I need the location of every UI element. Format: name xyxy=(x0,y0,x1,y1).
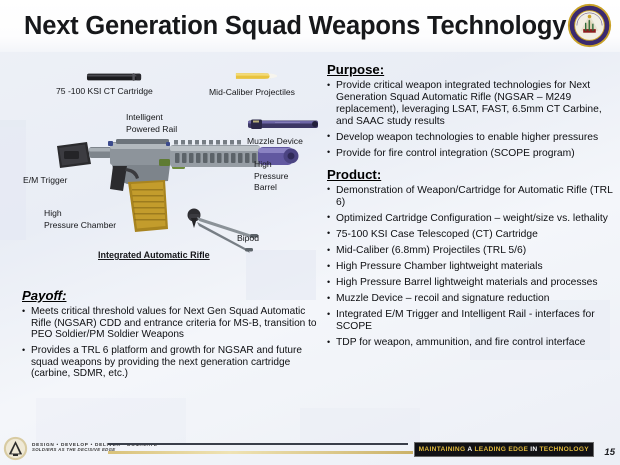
list-item: High Pressure Barrel lightweight materia… xyxy=(327,277,615,289)
list-item: Develop weapon technologies to enable hi… xyxy=(327,132,615,144)
footer-dark-rule xyxy=(108,443,408,445)
diagram-label-ct-cartridge: 75 -100 KSI CT Cartridge xyxy=(56,86,153,98)
product-list: Demonstration of Weapon/Cartridge for Au… xyxy=(327,185,615,349)
diagram-label-bipod: Bipod xyxy=(237,233,259,245)
list-item: Meets critical threshold values for Next… xyxy=(22,306,322,341)
page-number: 15 xyxy=(604,447,615,458)
list-item: 75-100 KSI Case Telescoped (CT) Cartridg… xyxy=(327,229,615,241)
diagram-label-high-pressure-chamber: High Pressure Chamber xyxy=(44,208,116,231)
list-item: Provide critical weapon integrated techn… xyxy=(327,80,615,128)
list-item: Demonstration of Weapon/Cartridge for Au… xyxy=(327,185,615,209)
diagram-label-high-pressure-barrel: High Pressure Barrel xyxy=(254,159,288,194)
purpose-list: Provide critical weapon integrated techn… xyxy=(327,80,615,160)
rifle-diagram: 75 -100 KSI CT Cartridge Mid-Caliber Pro… xyxy=(14,58,322,276)
diagram-caption: Integrated Automatic Rifle xyxy=(98,250,210,262)
footer-banner-part1: MAINTAINING xyxy=(419,446,466,453)
list-item: Provide for fire control integration (SC… xyxy=(327,148,615,160)
footer-tagline-banner: MAINTAINING A LEADING EDGE IN TECHNOLOGY xyxy=(414,442,594,457)
payoff-column: Payoff: Meets critical threshold values … xyxy=(22,288,322,385)
payoff-heading: Payoff: xyxy=(22,288,322,303)
army-rdecom-seal-icon xyxy=(567,3,612,48)
diagram-label-intelligent-powered-rail: Intelligent Powered Rail xyxy=(126,112,177,135)
diagram-label-em-trigger: E/M Trigger xyxy=(23,175,67,187)
slide-footer: DESIGN • DEVELOP • DELIVER • DOMINATE SO… xyxy=(0,431,620,465)
footer-banner-part3: LEADING EDGE xyxy=(474,446,528,453)
footer-banner-part4: IN xyxy=(530,446,537,453)
footer-gold-rule xyxy=(108,451,413,454)
product-heading: Product: xyxy=(327,167,615,182)
list-item: Muzzle Device – recoil and signature red… xyxy=(327,293,615,305)
list-item: Provides a TRL 6 platform and growth for… xyxy=(22,345,322,380)
list-item: Mid-Caliber (6.8mm) Projectiles (TRL 5/6… xyxy=(327,245,615,257)
ct-cartridge-art xyxy=(86,71,144,83)
payoff-list: Meets critical threshold values for Next… xyxy=(22,306,322,380)
diagram-label-mid-caliber-projectiles: Mid-Caliber Projectiles xyxy=(209,87,295,99)
header-divider xyxy=(0,51,620,54)
footer-banner-part5: TECHNOLOGY xyxy=(539,446,589,453)
purpose-heading: Purpose: xyxy=(327,62,615,77)
list-item: High Pressure Chamber lightweight materi… xyxy=(327,261,615,273)
slide: Next Generation Squad Weapons Technology xyxy=(0,0,620,465)
slide-header: Next Generation Squad Weapons Technology xyxy=(0,0,620,52)
right-column: Purpose: Provide critical weapon integra… xyxy=(327,62,615,353)
list-item: Integrated E/M Trigger and Intelligent R… xyxy=(327,309,615,333)
mid-caliber-projectile-art xyxy=(233,69,277,83)
page-title: Next Generation Squad Weapons Technology xyxy=(24,7,544,45)
diagram-label-muzzle-device: Muzzle Device xyxy=(247,136,303,148)
list-item: TDP for weapon, ammunition, and fire con… xyxy=(327,337,615,349)
army-castle-logo-icon xyxy=(3,436,28,461)
footer-banner-part2: A xyxy=(467,446,472,453)
list-item: Optimized Cartridge Configuration – weig… xyxy=(327,213,615,225)
